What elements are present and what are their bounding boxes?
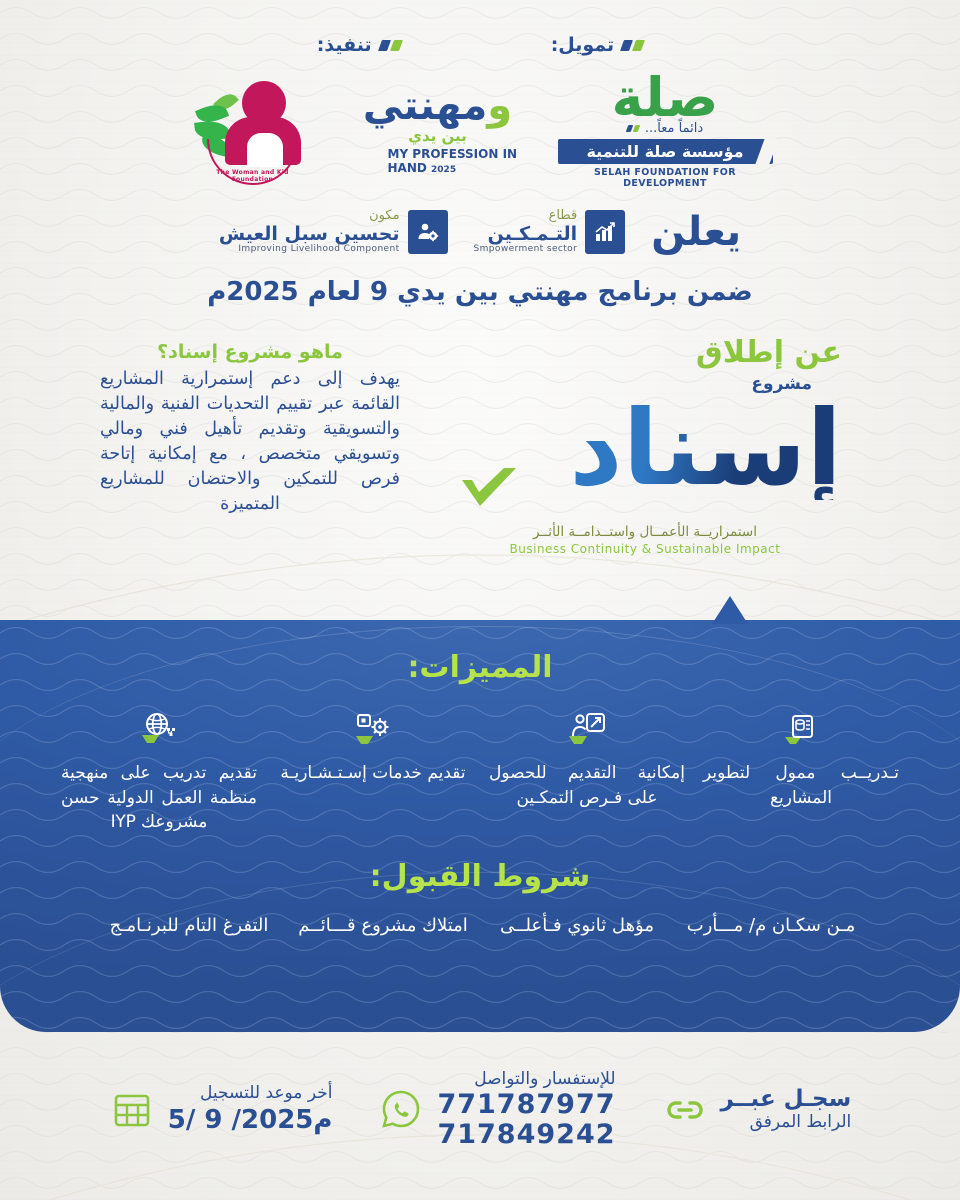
launch-heading: عن إطلاق <box>430 335 860 370</box>
feature-text: تـدريــب ممول لتطوير المشاريع <box>703 761 899 810</box>
condition-item: امتلاك مشروع قـــائــم <box>295 912 471 939</box>
woman-kid-emblem-icon: The Woman and Kid Foundation <box>195 77 310 185</box>
program-line: ضمن برنامج مهنتي بين يدي 9 لعام 2025م <box>0 277 960 307</box>
register-text: سجـل عبــر الرابط المرفق <box>721 1086 852 1132</box>
deadline-label: أخر موعد للتسجيل <box>168 1083 333 1104</box>
features-row: تـدريــب ممول لتطوير المشاريع إمك <box>0 707 960 835</box>
conditions-row: مـن سكـان م/ مـــأرب مؤهل ثانوي فـأعلــى… <box>0 912 960 939</box>
selah-arabic-mark: صلة <box>612 72 719 123</box>
middle-section: عن إطلاق مشروع إسناد استمراريــة الأعمــ… <box>0 335 960 548</box>
condition-item: مـن سكـان م/ مـــأرب <box>683 912 859 939</box>
fund-credit-label: تمويل: <box>551 34 643 56</box>
implement-label-text: تنفيذ: <box>317 34 372 56</box>
panel-notch-arrow <box>712 596 748 624</box>
esnad-logo: إسناد استمراريــة الأعمــال واستــدامــة… <box>430 388 860 548</box>
features-title: المميزات: <box>0 650 960 685</box>
register-line-2: الرابط المرفق <box>721 1112 852 1132</box>
feature-text: إمكانية التقديم للحصول على فـرص التمكـين <box>489 761 685 810</box>
contact-phone-2[interactable]: 717849242 <box>437 1120 615 1150</box>
esnad-launch-block: عن إطلاق مشروع إسناد استمراريــة الأعمــ… <box>430 335 860 548</box>
poster-root: تمويل: تنفيذ: صلة دائماً معاً... مؤسسة ص… <box>0 0 960 1200</box>
feature-text: تقديم خدمات إسـتـشـاريـة <box>275 761 471 786</box>
deadline-text: أخر موعد للتسجيل 5/ 9 /2025م <box>168 1083 333 1134</box>
blue-panel: المميزات: تـدريــب ممول لتطوير المشاريع <box>0 620 960 1032</box>
esnad-tagline-arabic: استمراريــة الأعمــال واستــدامــة الأثـ… <box>430 524 860 540</box>
coins-document-icon <box>703 707 899 751</box>
footer: أخر موعد للتسجيل 5/ 9 /2025م للإستفسار و… <box>0 1032 960 1200</box>
selah-bar-cut <box>755 139 778 164</box>
empowerment-en: Smpowerment sector <box>474 245 578 255</box>
condition-item: مؤهل ثانوي فـأعلــى <box>489 912 665 939</box>
empowerment-sector-chip: قطاع التـمـكـين Smpowerment sector <box>474 209 626 255</box>
livelihood-t1: مكون <box>219 209 400 223</box>
sector-row: يعلن قطاع التـمـكـين Smpowerment sector <box>0 209 960 255</box>
esnad-tagline-english: Business Continuity & Sustainable Impact <box>430 542 860 556</box>
description-body: يهدف إلى دعم إستمرارية المشاريع القائمة … <box>100 367 400 516</box>
slash-marks-icon <box>378 40 403 51</box>
mehnati-sub-arabic: بين يدي <box>358 127 518 145</box>
contact-label: للإستفسار والتواصل <box>437 1069 615 1090</box>
selah-name-arabic: مؤسسة صلة للتنمية <box>558 139 773 164</box>
credits-row: تمويل: تنفيذ: <box>0 34 960 56</box>
calendar-icon <box>109 1086 155 1132</box>
empowerment-t1: قطاع <box>474 209 578 223</box>
woman-kid-ring-text: The Woman and Kid Foundation <box>195 169 310 183</box>
empowerment-t2: التـمـكـين <box>474 224 578 245</box>
woman-kid-foundation-logo: The Woman and Kid Foundation <box>188 77 318 185</box>
esnad-check-icon <box>458 466 520 512</box>
contact-block: للإستفسار والتواصل 771787977 717849242 <box>378 1069 615 1150</box>
selah-foundation-logo: صلة دائماً معاً... مؤسسة صلة للتنمية SEL… <box>558 72 773 189</box>
mehnati-program-logo: ومهنتي بين يدي MY PROFESSION IN HAND 202… <box>358 86 518 176</box>
announces-word: يعلن <box>651 209 741 255</box>
implement-credit-label: تنفيذ: <box>317 34 401 56</box>
partner-logos-row: صلة دائماً معاً... مؤسسة صلة للتنمية SEL… <box>0 72 960 189</box>
slash-marks-icon <box>626 125 641 132</box>
conditions-title: شروط القبول: <box>0 859 960 894</box>
feature-item: تـدريــب ممول لتطوير المشاريع <box>703 707 899 835</box>
feature-item: إمكانية التقديم للحصول على فـرص التمكـين <box>489 707 685 835</box>
top-section: تمويل: تنفيذ: صلة دائماً معاً... مؤسسة ص… <box>0 0 960 548</box>
livelihood-component-chip: مكون تحسين سبل العيش Improving Livelihoo… <box>219 209 448 255</box>
gear-consulting-icon <box>275 707 471 751</box>
footer-row: أخر موعد للتسجيل 5/ 9 /2025م للإستفسار و… <box>0 1032 960 1200</box>
mehnati-mark-text: مهنتي <box>363 83 487 129</box>
bar-chart-growth-icon <box>585 210 625 254</box>
person-arrow-growth-icon <box>489 707 685 751</box>
feature-text: تقديم تدريب على منهجية منظمة العمل الدول… <box>61 761 257 835</box>
description-question: ماهو مشروع إسناد؟ <box>100 341 400 363</box>
register-line-1: سجـل عبــر <box>721 1086 852 1112</box>
mehnati-name-english: MY PROFESSION IN HAND 2025 <box>358 148 518 176</box>
selah-name-english: SELAH FOUNDATION FOR DEVELOPMENT <box>558 167 773 189</box>
whatsapp-icon[interactable] <box>378 1086 424 1132</box>
fund-label-text: تمويل: <box>551 34 614 56</box>
deadline-value: 5/ 9 /2025م <box>168 1105 333 1135</box>
blue-panel-content: المميزات: تـدريــب ممول لتطوير المشاريع <box>0 620 960 939</box>
register-block[interactable]: سجـل عبــر الرابط المرفق <box>662 1086 852 1132</box>
livelihood-t2: تحسين سبل العيش <box>219 224 400 245</box>
feature-item: تقديم خدمات إسـتـشـاريـة <box>275 707 471 835</box>
link-chain-icon[interactable] <box>662 1086 708 1132</box>
slash-marks-icon <box>620 40 645 51</box>
description-block: ماهو مشروع إسناد؟ يهدف إلى دعم إستمرارية… <box>100 335 400 516</box>
esnad-wordmark: إسناد <box>569 396 842 500</box>
globe-network-icon <box>61 707 257 751</box>
mehnati-year: 2025 <box>431 165 456 175</box>
person-gear-icon <box>408 210 448 254</box>
mehnati-mark-green: و <box>487 83 512 129</box>
livelihood-en: Improving Livelihood Component <box>219 245 400 255</box>
contact-text: للإستفسار والتواصل 771787977 717849242 <box>437 1069 615 1150</box>
feature-item: تقديم تدريب على منهجية منظمة العمل الدول… <box>61 707 257 835</box>
empowerment-sector-text: قطاع التـمـكـين Smpowerment sector <box>474 209 578 255</box>
contact-phone-1[interactable]: 771787977 <box>437 1090 615 1120</box>
condition-item: التفرغ التام للبرنـامـج <box>101 912 277 939</box>
mehnati-arabic-mark: ومهنتي <box>358 86 518 126</box>
deadline-block: أخر موعد للتسجيل 5/ 9 /2025م <box>109 1083 333 1134</box>
livelihood-component-text: مكون تحسين سبل العيش Improving Livelihoo… <box>219 209 400 255</box>
selah-name-ar-text: مؤسسة صلة للتنمية <box>586 142 743 161</box>
